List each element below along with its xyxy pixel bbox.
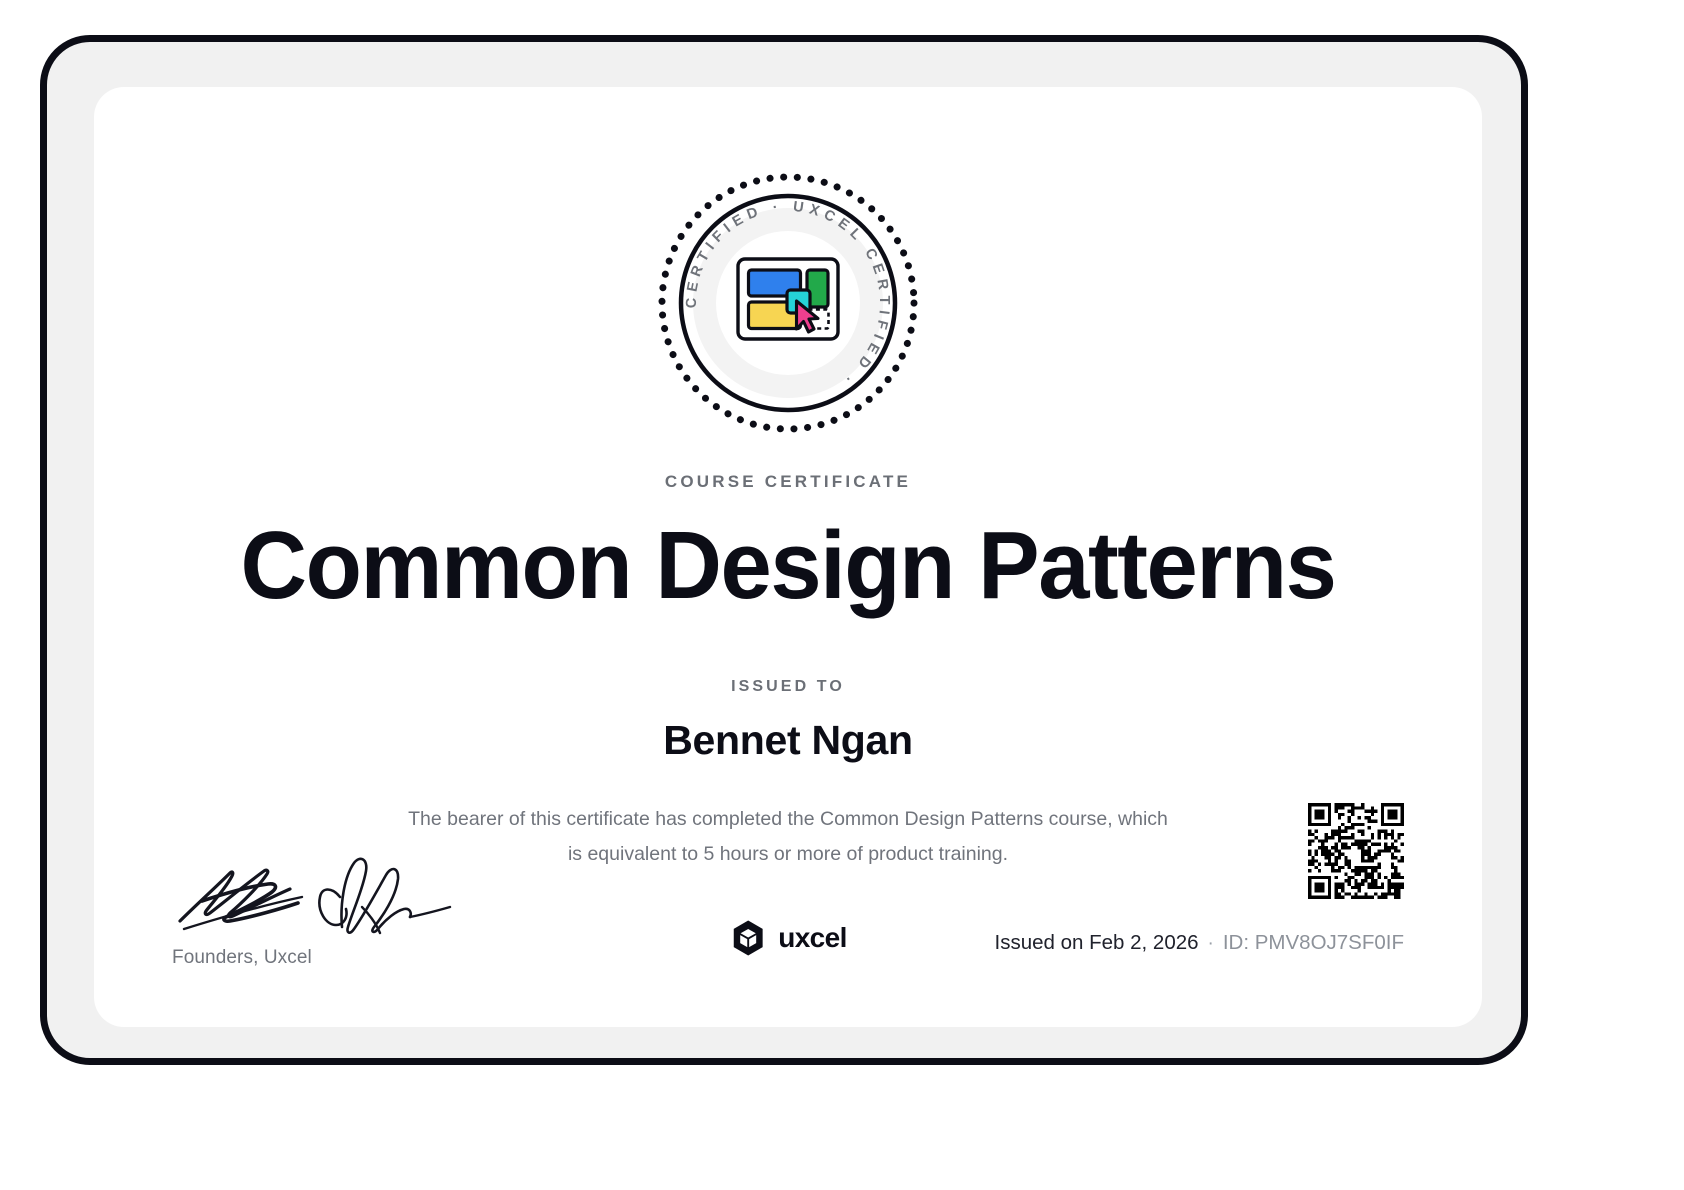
certificate-outer-frame: UXCEL CERTIFIED · UXCEL CERTIFIED ·: [40, 35, 1528, 1065]
certification-seal: UXCEL CERTIFIED · UXCEL CERTIFIED ·: [654, 169, 922, 437]
certificate-body-text: The bearer of this certificate has compl…: [408, 802, 1168, 872]
page-title: Common Design Patterns: [122, 512, 1454, 620]
uxcel-wordmark: uxcel: [778, 922, 847, 954]
issued-to-label: ISSUED TO: [94, 678, 1482, 696]
certificate-eyebrow: COURSE CERTIFICATE: [94, 472, 1482, 492]
issue-meta: Issued on Feb 2, 2026 · ID: PMV8OJ7SF0IF: [995, 931, 1404, 955]
signature-block: Founders, Uxcel: [172, 855, 502, 969]
signature-caption: Founders, Uxcel: [172, 947, 502, 969]
certificate-qr-code[interactable]: [1308, 803, 1404, 899]
recipient-name: Bennet Ngan: [94, 717, 1482, 764]
seal-graphic: UXCEL CERTIFIED · UXCEL CERTIFIED ·: [654, 169, 922, 437]
certificate-id: ID: PMV8OJ7SF0IF: [1223, 931, 1404, 955]
qr-code-graphic: [1308, 803, 1404, 899]
certificate-page: UXCEL CERTIFIED · UXCEL CERTIFIED ·: [0, 0, 1684, 1190]
uxcel-brand: uxcel: [729, 919, 847, 957]
founders-signature-icon: [172, 855, 462, 937]
uxcel-logo-icon: [729, 919, 767, 957]
certificate-card: UXCEL CERTIFIED · UXCEL CERTIFIED ·: [94, 87, 1482, 1027]
design-window-cursor-icon: [738, 259, 838, 339]
meta-separator: ·: [1208, 933, 1214, 955]
issue-date: Issued on Feb 2, 2026: [995, 931, 1199, 955]
